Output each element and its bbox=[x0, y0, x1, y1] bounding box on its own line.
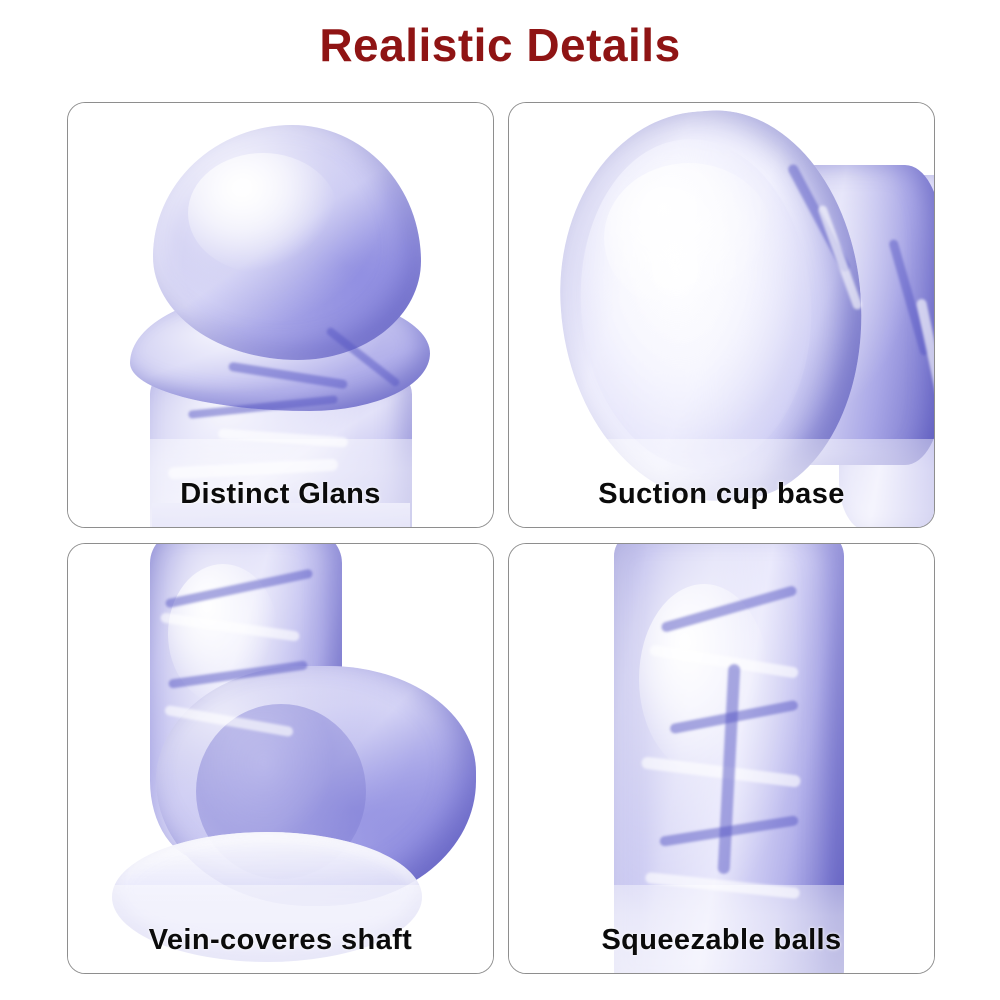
panel-caption-distinct-glans: Distinct Glans bbox=[68, 478, 493, 511]
feature-panel-distinct-glans[interactable]: Distinct Glans bbox=[67, 102, 494, 528]
feature-panel-squeezable-balls[interactable]: Squeezable balls bbox=[508, 543, 935, 974]
product-photo-distinct-glans bbox=[68, 103, 493, 527]
panel-caption-vein-covered-shaft: Vein-coveres shaft bbox=[68, 924, 493, 957]
product-photo-squeezable-balls bbox=[509, 544, 934, 973]
panel-caption-squeezable-balls: Squeezable balls bbox=[509, 924, 934, 957]
product-feature-infographic: Realistic Details Distinct Glans bbox=[0, 0, 1000, 1000]
page-title: Realistic Details bbox=[0, 22, 1000, 68]
feature-panel-suction-cup-base[interactable]: Suction cup base bbox=[508, 102, 935, 528]
product-photo-vein-covered-shaft bbox=[68, 544, 493, 973]
glans-head-shape bbox=[153, 125, 421, 360]
panel-caption-suction-cup-base: Suction cup base bbox=[509, 478, 934, 511]
feature-panel-vein-covered-shaft[interactable]: Vein-coveres shaft bbox=[67, 543, 494, 974]
product-photo-suction-cup-base bbox=[509, 103, 934, 527]
